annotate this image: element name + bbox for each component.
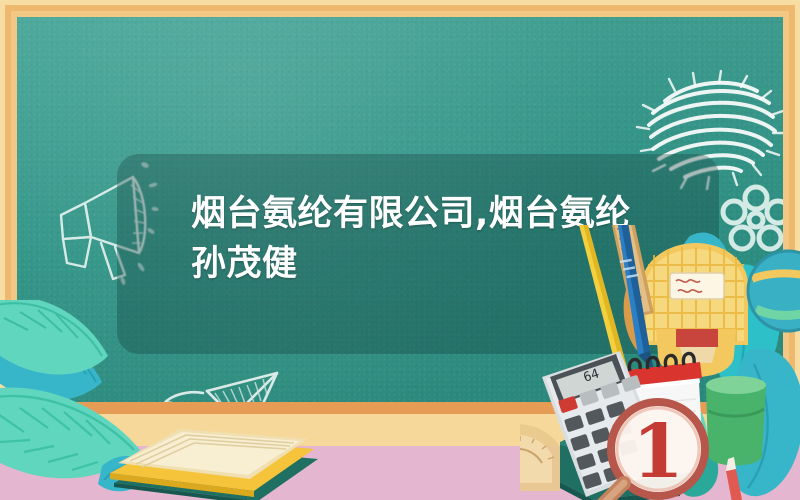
poster-canvas: 烟台氨纶有限公司,烟台氨纶孙茂健	[0, 0, 800, 500]
page-title: 烟台氨纶有限公司,烟台氨纶孙茂健	[191, 189, 661, 289]
desk-surface-tan	[0, 414, 800, 448]
desk-surface-pink	[0, 446, 800, 500]
flower-icon	[719, 262, 783, 334]
desk-scene	[0, 375, 800, 500]
flower-icon	[717, 180, 783, 258]
